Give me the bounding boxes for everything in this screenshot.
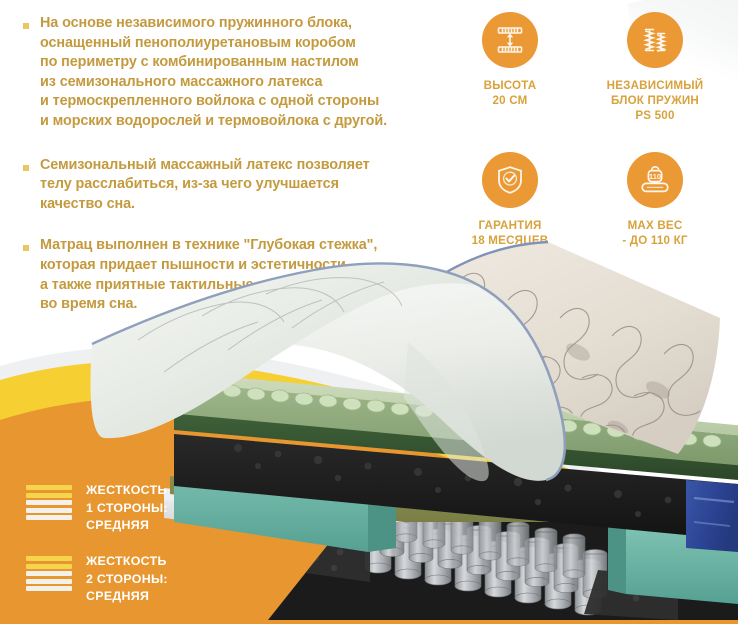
coil-springs-icon	[627, 12, 683, 68]
firmness-bar	[26, 485, 72, 490]
promo-banner: На основе независимого пружинного блока,…	[0, 0, 738, 624]
bullet-marker-icon	[23, 245, 29, 251]
bullet-item: Семизональный массажный латекс позволяет…	[0, 156, 430, 215]
firmness-side-2: ЖЕСТКОСТЬ 2 СТОРОНЫ: СРЕДНЯЯ	[26, 553, 168, 606]
feature-caption: НЕЗАВИСИМЫЙ БЛОК ПРУЖИН PS 500	[585, 78, 725, 123]
firmness-bar	[26, 556, 72, 561]
height-ruler-icon	[482, 12, 538, 68]
feature-caption: ВЫСОТА 20 СМ	[440, 78, 580, 108]
bullet-text: На основе независимого пружинного блока,…	[40, 14, 430, 132]
firmness-bar	[26, 493, 72, 498]
kettlebell-icon: 110	[627, 152, 683, 208]
firmness-bar	[26, 571, 72, 576]
firmness-level-bars	[26, 556, 72, 594]
kettlebell-weight-label: 110	[649, 172, 661, 181]
firmness-bar	[26, 500, 72, 505]
firmness-label: ЖЕСТКОСТЬ 1 СТОРОНЫ: СРЕДНЯЯ	[86, 482, 168, 535]
feature-spring-block: НЕЗАВИСИМЫЙ БЛОК ПРУЖИН PS 500	[585, 12, 725, 123]
feature-height: ВЫСОТА 20 СМ	[440, 12, 580, 108]
bullet-marker-icon	[23, 23, 29, 29]
shield-check-icon	[482, 152, 538, 208]
firmness-side-1: ЖЕСТКОСТЬ 1 СТОРОНЫ: СРЕДНЯЯ	[26, 482, 168, 535]
firmness-bar	[26, 586, 72, 591]
firmness-bar	[26, 508, 72, 513]
firmness-bar	[26, 579, 72, 584]
firmness-bar	[26, 515, 72, 520]
firmness-label: ЖЕСТКОСТЬ 2 СТОРОНЫ: СРЕДНЯЯ	[86, 553, 168, 606]
firmness-level-bars	[26, 485, 72, 523]
bullet-marker-icon	[23, 165, 29, 171]
brand-side-label	[686, 480, 738, 552]
bullet-text: Семизональный массажный латекс позволяет…	[40, 156, 430, 215]
bullet-item: На основе независимого пружинного блока,…	[0, 14, 430, 132]
mattress-cutaway	[78, 222, 738, 624]
firmness-bar	[26, 564, 72, 569]
